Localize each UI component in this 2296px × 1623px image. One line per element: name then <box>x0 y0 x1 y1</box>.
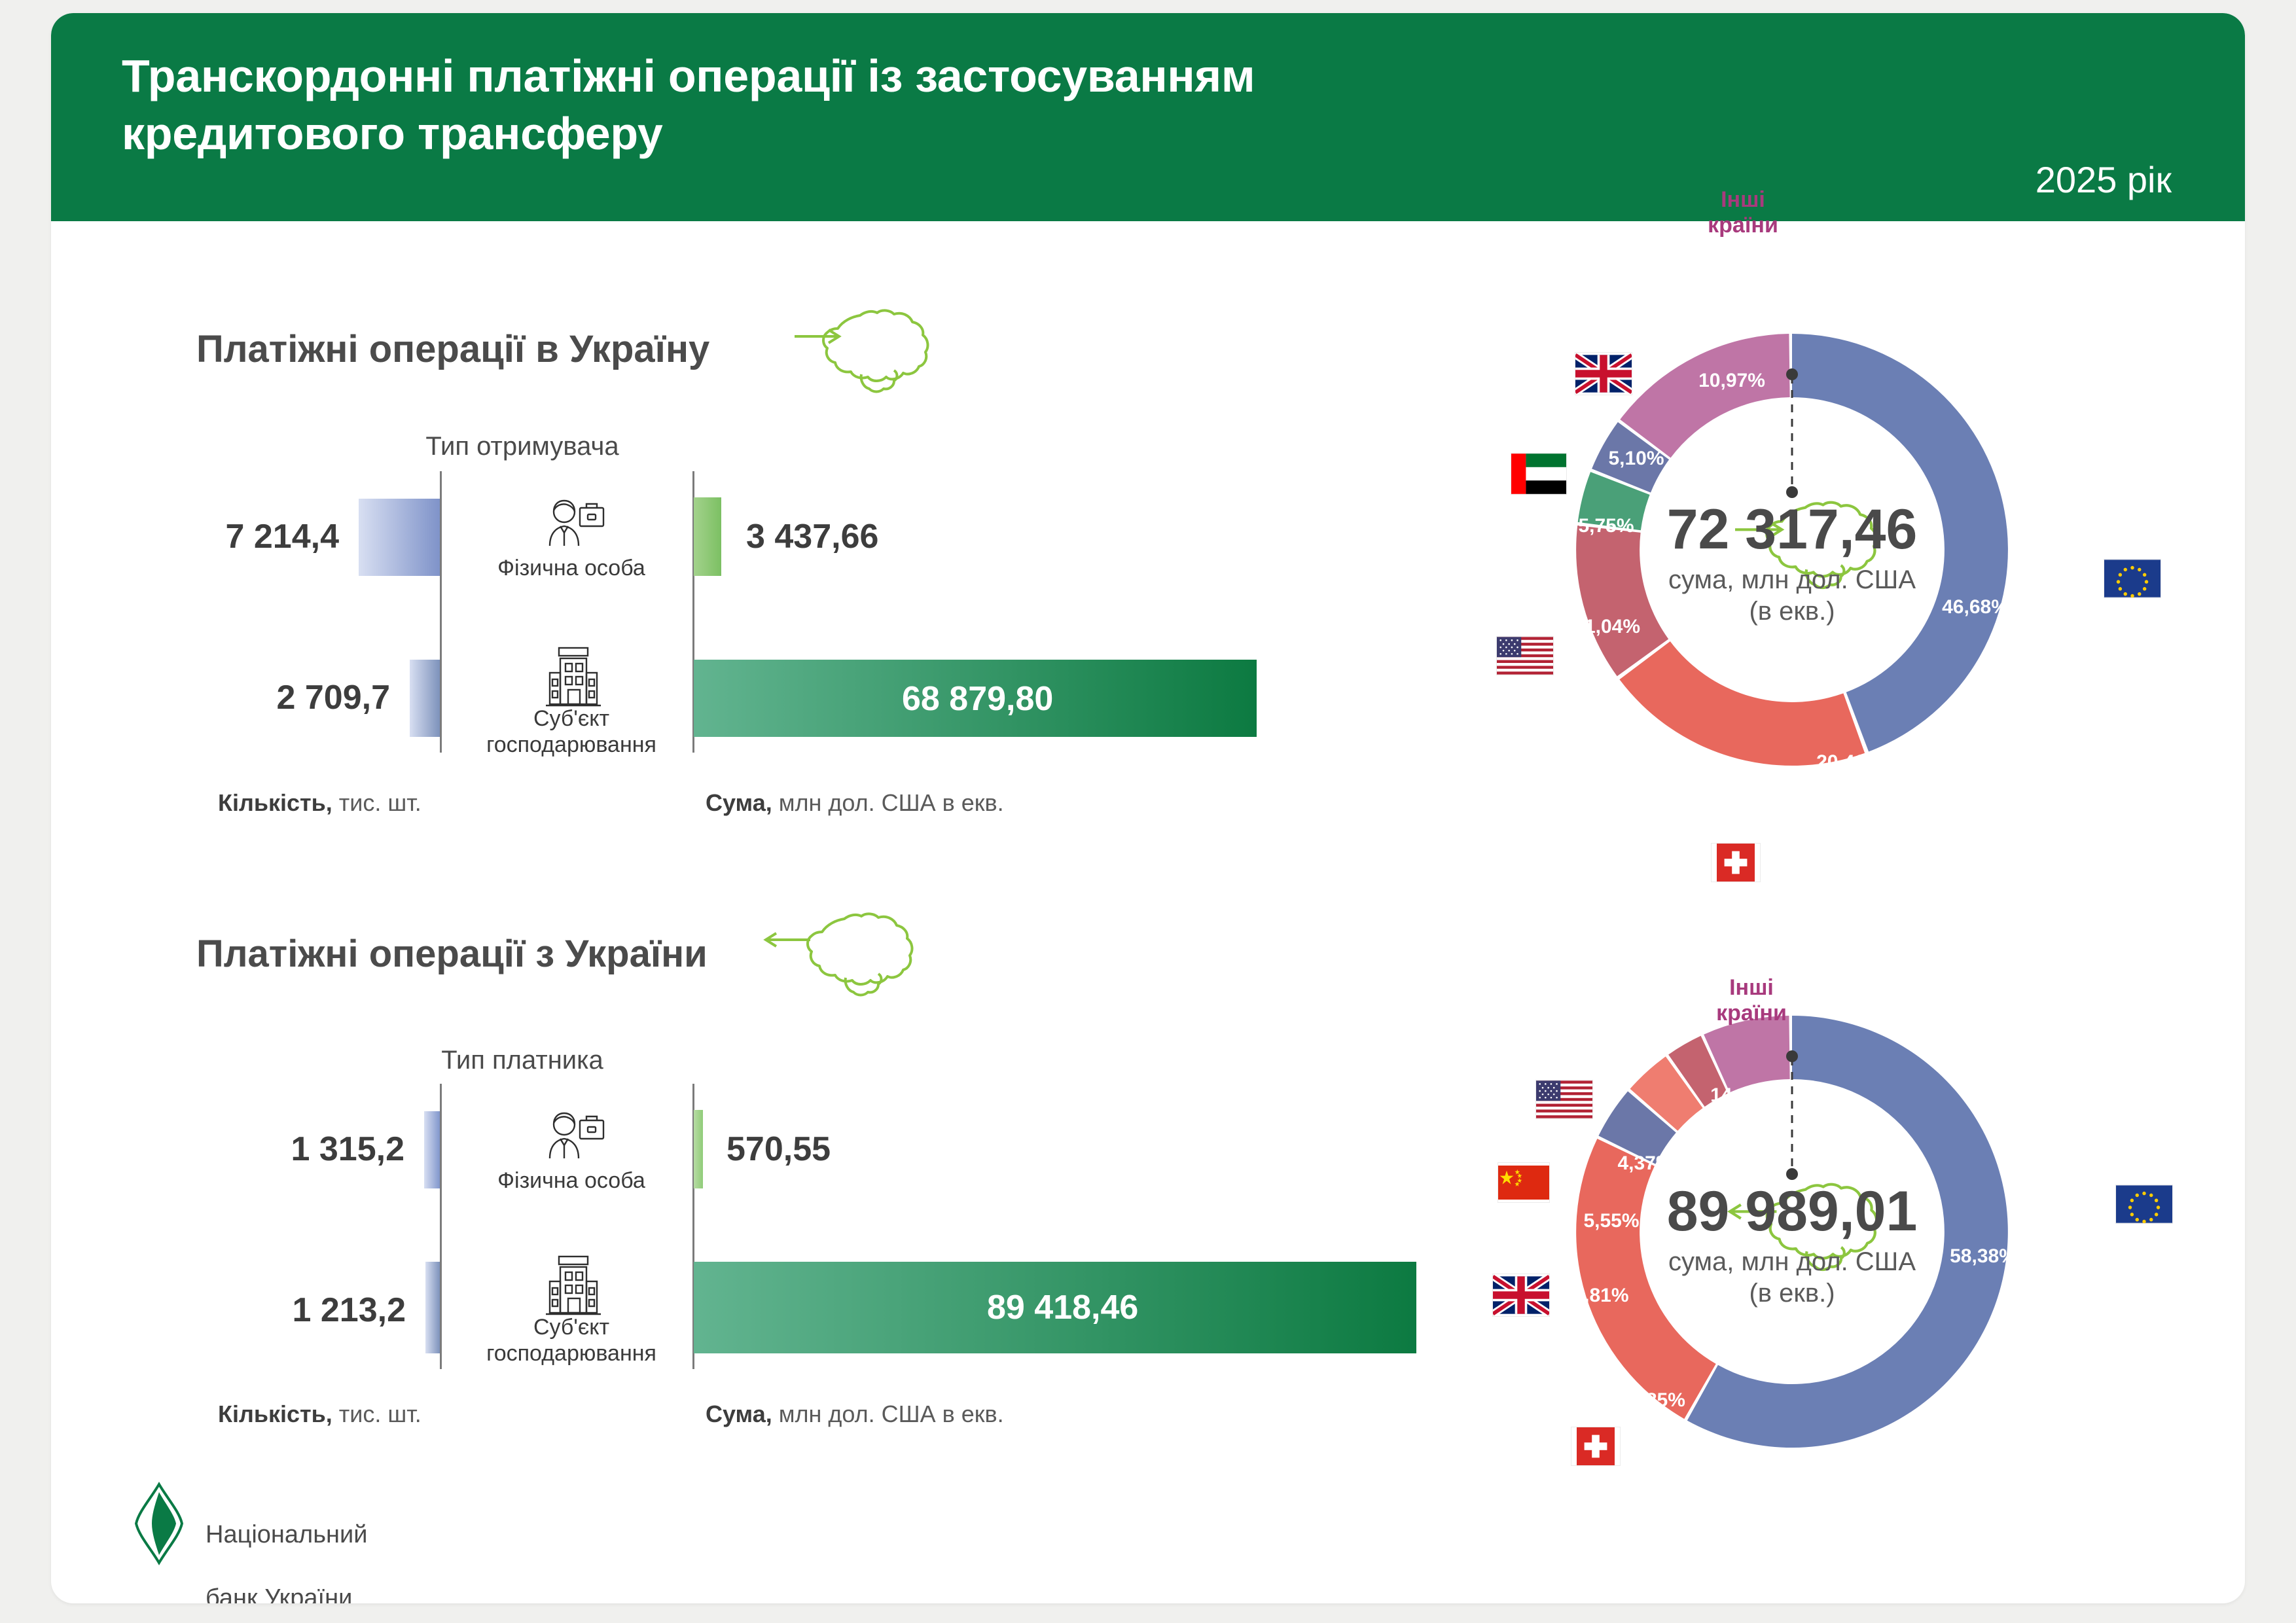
ukraine-map-outbound-icon <box>744 903 933 1008</box>
axis-caption-count-inbound-rest: тис. шт. <box>332 789 422 816</box>
count-value-outbound-entity: 1 213,2 <box>90 1291 406 1330</box>
donut-label-ch-inbound: 20,46% <box>1816 751 1883 774</box>
axis-rule-left-inbound <box>440 471 442 753</box>
category-label-outbound-individual: Фізична особа <box>457 1168 686 1194</box>
axis-caption-amount-inbound-bold: Сума, <box>706 789 772 816</box>
building-icon <box>541 1255 606 1318</box>
type-header-inbound: Тип отримувача <box>339 432 706 461</box>
page-title-line1: Транскордонні платіжні операції із засто… <box>122 47 1693 105</box>
china-flag-icon <box>1498 1162 1550 1203</box>
count-bar-inbound-entity <box>410 660 440 737</box>
section-title-outbound: Платіжні операції з України <box>196 932 708 976</box>
count-bar-inbound-individual <box>359 499 440 576</box>
donut-label-eu-inbound: 46,68% <box>1942 596 2009 618</box>
usa-flag-icon <box>1535 1080 1593 1119</box>
infographic-page: Транскордонні платіжні операції із засто… <box>51 13 2245 1603</box>
donut-label-ae-inbound: 5,75% <box>1578 515 1634 537</box>
axis-caption-count-outbound-rest: тис. шт. <box>332 1400 422 1427</box>
eu-flag-icon <box>2104 559 2161 598</box>
donut-slice-other[interactable] <box>1620 334 1789 458</box>
count-value-outbound-individual: 1 315,2 <box>90 1130 404 1169</box>
axis-rule-left-outbound <box>440 1084 442 1369</box>
type-header-outbound: Тип платника <box>339 1046 706 1075</box>
donut-chart-outbound: 89 989,01 сума, млн дол. США (в екв.) 58… <box>1543 983 2041 1480</box>
person-briefcase-icon <box>538 496 607 550</box>
uk-flag-icon <box>1575 352 1632 395</box>
donut-label-gb-outbound: 6,81% <box>1573 1285 1628 1307</box>
donut-label-cn-outbound: 5,55% <box>1583 1210 1639 1232</box>
leader-dot-bottom <box>1786 486 1798 498</box>
axis-caption-count-inbound-bold: Кількість, <box>218 789 332 816</box>
other-countries-label-inbound: Інші країни <box>1708 187 1778 238</box>
leader-dot-top <box>1786 1050 1798 1062</box>
donut-label-gb-inbound: 5,10% <box>1608 448 1664 470</box>
page-title: Транскордонні платіжні операції із засто… <box>122 47 1693 162</box>
donut-label-us-outbound: 4,37% <box>1617 1152 1673 1175</box>
amount-value-inbound-entity: 68 879,80 <box>902 679 1053 719</box>
axis-caption-count-outbound: Кількість, тис. шт. <box>218 1400 422 1428</box>
other-countries-label-outbound: Інші країни <box>1716 975 1787 1026</box>
amount-bar-outbound-individual <box>694 1110 703 1188</box>
axis-caption-count-outbound-bold: Кількість, <box>218 1400 332 1427</box>
category-label-inbound-individual: Фізична особа <box>457 555 686 581</box>
nbu-logo-text: Національний банк України <box>206 1487 367 1603</box>
donut-label-us-inbound: 11,04% <box>1575 616 1640 638</box>
amount-bar-inbound-individual <box>694 497 721 576</box>
page-header: Транскордонні платіжні операції із засто… <box>51 13 2245 221</box>
uae-flag-icon <box>1511 453 1567 495</box>
count-value-inbound-individual: 7 214,4 <box>90 517 339 556</box>
nbu-logo-line1: Національний <box>206 1519 367 1551</box>
donut-slice-ch[interactable] <box>1619 641 1865 766</box>
donut-label-eu-outbound: 58,38% <box>1950 1245 2017 1268</box>
nbu-logo-line2: банк України <box>206 1582 367 1603</box>
axis-caption-count-inbound: Кількість, тис. шт. <box>218 789 422 817</box>
axis-caption-amount-outbound: Сума, млн дол. США в екв. <box>706 1400 1004 1428</box>
donut-label-other-outbound: 14,03% <box>1710 1084 1777 1107</box>
year-label: 2025 рік <box>2036 158 2172 201</box>
axis-caption-amount-inbound-rest: млн дол. США в екв. <box>772 789 1004 816</box>
page-title-line2: кредитового трансферу <box>122 105 1693 162</box>
uk-flag-icon <box>1492 1274 1550 1317</box>
count-value-inbound-entity: 2 709,7 <box>90 678 390 717</box>
count-bar-outbound-entity <box>425 1262 440 1353</box>
axis-caption-amount-outbound-rest: млн дол. США в екв. <box>772 1400 1004 1427</box>
category-label-outbound-entity: Суб'єкт господарювання <box>457 1314 686 1366</box>
switzerland-flag-icon <box>1571 1427 1621 1466</box>
donut-label-ch-outbound: 10,85% <box>1619 1389 1685 1412</box>
eu-flag-icon <box>2115 1185 2173 1224</box>
amount-value-inbound-individual: 3 437,66 <box>746 517 878 556</box>
ukraine-map-inbound-icon <box>764 301 948 399</box>
leader-dot-bottom <box>1786 1168 1798 1180</box>
amount-value-outbound-individual: 570,55 <box>726 1130 831 1169</box>
amount-value-outbound-entity: 89 418,46 <box>987 1288 1138 1327</box>
building-icon <box>541 647 606 709</box>
donut-center-sub1-inbound: сума, млн дол. США <box>1543 564 2041 596</box>
donut-label-other-inbound: 10,97% <box>1698 370 1765 392</box>
axis-caption-amount-inbound: Сума, млн дол. США в екв. <box>706 789 1004 817</box>
person-briefcase-icon <box>538 1109 607 1162</box>
nbu-logo-icon <box>134 1482 185 1565</box>
usa-flag-icon <box>1496 636 1554 675</box>
count-bar-outbound-individual <box>424 1111 440 1188</box>
category-label-inbound-entity: Суб'єкт господарювання <box>457 705 686 758</box>
switzerland-flag-icon <box>1711 843 1761 882</box>
section-title-inbound: Платіжні операції в Україну <box>196 327 709 371</box>
axis-caption-amount-outbound-bold: Сума, <box>706 1400 772 1427</box>
leader-dot-top <box>1786 368 1798 380</box>
